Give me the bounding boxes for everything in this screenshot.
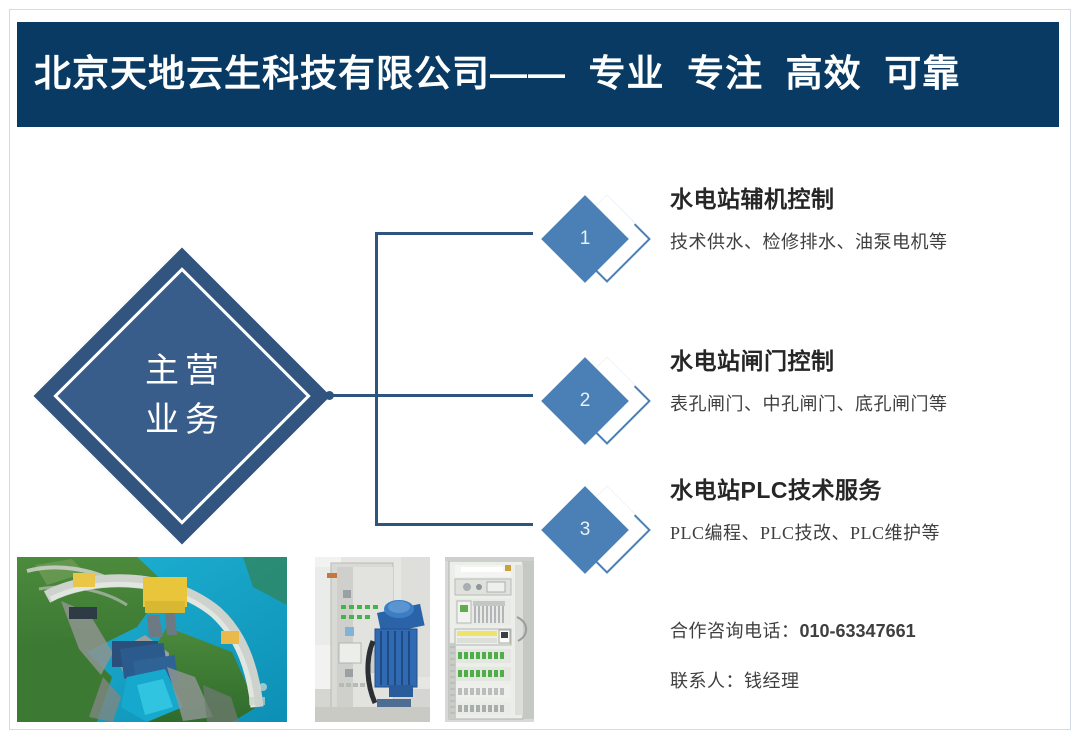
connector-stem [328,394,378,397]
bracket-connector [325,180,575,555]
business-item-2: 2 水电站闸门控制 表孔闸门、中孔闸门、底孔闸门等 [548,348,1048,460]
aerial-dam-illustration [17,557,287,722]
electrical-cabinet-illustration [445,557,534,722]
hub-label: 主营 业务 [33,247,331,545]
contact-phone-number: 010-63347661 [800,621,916,641]
business-item-title-1: 水电站辅机控制 [670,186,1050,214]
contact-phone-label: 合作咨询电话： [670,621,800,641]
business-item-text-3: 水电站PLC技术服务 PLC编程、PLC技改、PLC维护等 [670,477,1050,545]
control-cabinet-illustration [315,557,430,722]
business-item-title-3: 水电站PLC技术服务 [670,477,1050,505]
connector-branch-3 [375,523,533,526]
number-badge-1: 1 [548,194,640,286]
number-badge-3: 3 [548,485,640,577]
business-item-3: 3 水电站PLC技术服务 PLC编程、PLC技改、PLC维护等 [548,477,1048,589]
photo-control-cabinet-motor [315,557,430,722]
business-item-text-2: 水电站闸门控制 表孔闸门、中孔闸门、底孔闸门等 [670,348,1050,416]
connector-trunk [375,232,378,526]
business-item-text-1: 水电站辅机控制 技术供水、检修排水、油泵电机等 [670,186,1050,254]
connector-branch-2 [375,394,533,397]
business-item-1: 1 水电站辅机控制 技术供水、检修排水、油泵电机等 [548,186,1048,298]
hub-label-line1: 主营 [139,347,225,396]
header-banner: 北京天地云生科技有限公司—— 专业 专注 高效 可靠 [17,22,1059,127]
contact-phone-line: 合作咨询电话：010-63347661 [670,620,1070,643]
business-item-desc-1: 技术供水、检修排水、油泵电机等 [670,231,1050,254]
badge-number-label-3: 3 [554,499,616,561]
badge-number-label-1: 1 [554,208,616,270]
business-item-title-2: 水电站闸门控制 [670,348,1050,376]
photo-open-electrical-cabinet [445,557,534,722]
badge-number-label-2: 2 [554,370,616,432]
contact-block: 合作咨询电话：010-63347661 联系人：钱经理 [670,620,1070,692]
slide-canvas: 北京天地云生科技有限公司—— 专业 专注 高效 可靠 主营 业务 1 水电站辅机… [0,0,1080,745]
business-item-desc-2: 表孔闸门、中孔闸门、底孔闸门等 [670,393,1050,416]
number-badge-2: 2 [548,356,640,448]
photo-aerial-arch-dam [17,557,287,722]
main-business-hub: 主营 业务 [33,247,331,545]
company-slogan-title: 北京天地云生科技有限公司—— 专业 专注 高效 可靠 [17,54,960,95]
connector-branch-1 [375,232,533,235]
hub-label-line2: 业务 [139,396,225,445]
contact-person-line: 联系人：钱经理 [670,670,1070,693]
business-item-desc-3: PLC编程、PLC技改、PLC维护等 [670,522,1050,545]
